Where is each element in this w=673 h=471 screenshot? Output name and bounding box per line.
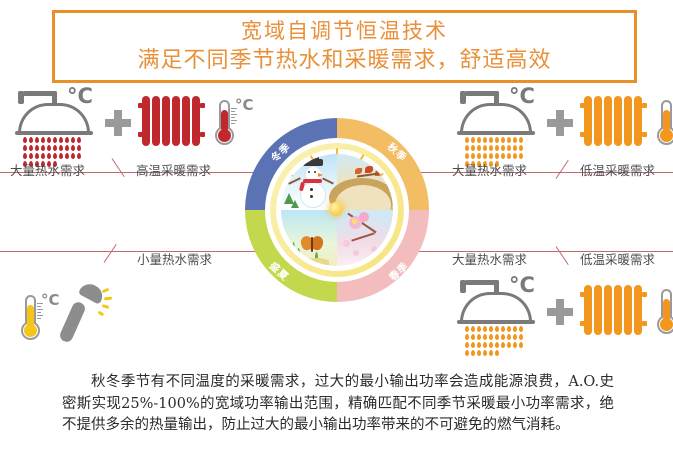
shower-head-icon: °C	[452, 277, 540, 339]
radiator-fins	[584, 285, 642, 335]
blossom-branch	[351, 232, 374, 241]
blossom-petal	[353, 250, 359, 256]
plus-icon	[547, 299, 573, 325]
grass-blade	[292, 242, 295, 260]
title-box: 宽域自调节恒温技术 满足不同季节热水和采暖需求，舒适高效	[52, 10, 637, 83]
caption-hot-water-bottom-right: 大量热水需求	[452, 249, 527, 268]
divider-tick-bottom-left	[104, 244, 117, 263]
pine-tree-icon	[291, 200, 299, 208]
caption-hot-water-top-right: 大量热水需求	[452, 160, 527, 179]
scene-summer	[281, 210, 337, 266]
radiator-nub	[138, 103, 143, 108]
shower-face-bar	[457, 320, 535, 324]
radiator-icon	[580, 94, 654, 150]
degree-celsius-label: °C	[509, 275, 535, 296]
spray-jet	[98, 311, 105, 317]
water-drops-group	[465, 326, 527, 356]
scene-autumn	[337, 154, 393, 210]
blossom-flower	[359, 212, 369, 222]
radiator-nub	[200, 132, 205, 137]
sun-icon	[329, 202, 343, 216]
radiator-icon	[138, 94, 212, 150]
snowman-button	[310, 195, 313, 198]
icon-group-bottom-left: °C	[18, 283, 116, 345]
spray-jet	[102, 288, 110, 294]
thermometer-icon: °C	[212, 96, 252, 150]
snowman-eye	[314, 171, 316, 173]
shower-face-bar	[457, 131, 535, 135]
snowman-arm-left	[288, 177, 301, 184]
radiator-fins	[584, 96, 642, 146]
radiator-nub	[642, 292, 647, 297]
radiator-nub	[642, 321, 647, 326]
handheld-shower-icon	[58, 283, 116, 345]
blossom-petal	[371, 246, 377, 252]
degree-celsius-label: °C	[509, 86, 535, 107]
divider-tick-top-right	[556, 160, 569, 179]
thermometer-bulb-fill	[218, 129, 231, 142]
caption-heating-bottom-right: 低温采暖需求	[580, 249, 655, 268]
shower-arm-cap	[18, 91, 24, 104]
radiator-nub	[200, 103, 205, 108]
divider-tick-top-left	[112, 158, 125, 177]
autumn-leaf-icon	[382, 163, 388, 168]
thermometer-icon: °C	[654, 285, 673, 339]
icon-group-bottom-right: °C °C	[452, 277, 673, 339]
title-line-primary: 宽域自调节恒温技术	[241, 18, 448, 45]
snowman-eye	[308, 171, 310, 173]
spray-jet	[104, 297, 112, 301]
handheld-shower-handle	[58, 300, 87, 344]
radiator-nub	[642, 132, 647, 137]
radiator-nub	[642, 103, 647, 108]
blossom-center	[352, 219, 357, 224]
snowman-hat-top	[307, 154, 319, 161]
shower-face-bar	[15, 131, 93, 135]
season-wheel: 冬季 秋季 盛夏 春季	[245, 134, 429, 286]
radiator-fins	[142, 96, 200, 146]
description-paragraph: 秋冬季节有不同温度的采暖需求，过大的最小输出功率会造成能源浪费，A.O.史密斯实…	[62, 372, 614, 437]
radiator-nub	[138, 132, 143, 137]
shower-head-icon: °C	[10, 88, 98, 150]
caption-heating-top-left: 高温采暖需求	[136, 160, 211, 179]
thermometer-icon: °C	[18, 291, 58, 345]
summer-ground	[303, 258, 329, 266]
caption-hot-water-top-left: 大量热水需求	[10, 160, 85, 179]
radiator-nub	[580, 321, 585, 326]
plus-icon	[547, 110, 573, 136]
thermometer-icon: °C	[654, 96, 673, 150]
radiator-nub	[580, 132, 585, 137]
shower-head-icon: °C	[452, 88, 540, 150]
autumn-leaf-icon	[365, 166, 373, 173]
title-line-secondary: 满足不同季节热水和采暖需求，舒适高效	[137, 47, 551, 75]
icon-group-top-right: °C °C	[452, 88, 673, 150]
caption-hot-water-bottom-left: 小量热水需求	[137, 249, 212, 268]
caption-heating-top-right: 低温采暖需求	[580, 160, 655, 179]
thermometer-bulb-fill	[660, 318, 673, 331]
degree-celsius-label: °C	[235, 96, 254, 114]
shower-arm-cap	[460, 280, 466, 293]
grass-blade	[287, 246, 290, 260]
radiator-icon	[580, 283, 654, 339]
thermometer-bulb-fill	[24, 324, 37, 337]
scene-spring	[337, 210, 393, 266]
autumn-leaf-icon	[355, 168, 362, 174]
butterfly-body	[311, 237, 313, 252]
snowman-button	[310, 188, 313, 191]
divider-tick-bottom-right	[556, 246, 569, 265]
snowman-scarf	[303, 179, 322, 183]
degree-celsius-label: °C	[41, 291, 60, 309]
plus-icon	[105, 110, 131, 136]
radiator-nub	[580, 292, 585, 297]
icon-group-top-left: °C °C	[10, 88, 252, 150]
degree-celsius-label: °C	[67, 86, 93, 107]
spray-jet	[102, 304, 110, 309]
grass-blade	[297, 248, 300, 260]
radiator-nub	[580, 103, 585, 108]
shower-arm-cap	[460, 91, 466, 104]
snowman-arm-right	[322, 177, 334, 184]
thermometer-bulb-fill	[660, 129, 673, 142]
blossom-petal	[343, 240, 350, 247]
